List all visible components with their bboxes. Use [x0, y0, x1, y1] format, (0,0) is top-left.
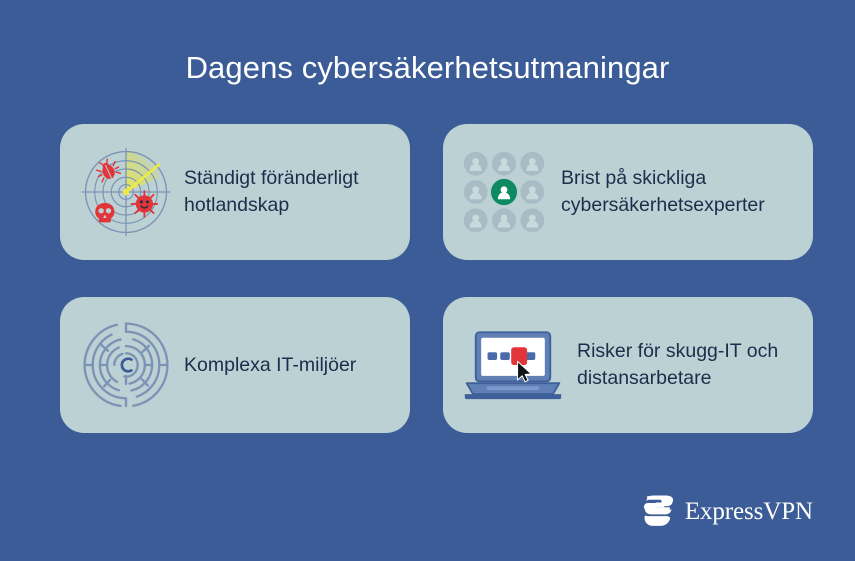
card-complex-it-environments[interactable]: Komplexa IT-miljöer — [60, 297, 410, 433]
brand-wordmark: ExpressVPN — [685, 499, 813, 524]
card-label: Ständigt föränderligt hotlandskap — [174, 165, 394, 218]
infographic-root: Dagens cybersäkerhetsutmaningar — [0, 0, 855, 561]
card-skills-shortage[interactable]: Brist på skickliga cybersäkerhetsexperte… — [443, 124, 813, 260]
people-grid-icon — [461, 144, 547, 240]
expressvpn-logo[interactable]: ExpressVPN — [643, 494, 813, 528]
challenge-card-grid: Ständigt föränderligt hotlandskap — [60, 124, 813, 433]
maze-icon — [78, 317, 174, 413]
card-shadow-it-remote-risks[interactable]: Risker för skugg-IT och distansarbetare — [443, 297, 813, 433]
card-evolving-threat-landscape[interactable]: Ständigt föränderligt hotlandskap — [60, 124, 410, 260]
card-label: Risker för skugg-IT och distansarbetare — [565, 338, 797, 391]
expressvpn-e-mark-icon — [643, 494, 674, 528]
page-title: Dagens cybersäkerhetsutmaningar — [0, 49, 855, 86]
card-label: Komplexa IT-miljöer — [174, 352, 394, 379]
laptop-cursor-icon — [461, 317, 565, 413]
card-label: Brist på skickliga cybersäkerhetsexperte… — [547, 165, 797, 218]
radar-threats-icon — [78, 144, 174, 240]
